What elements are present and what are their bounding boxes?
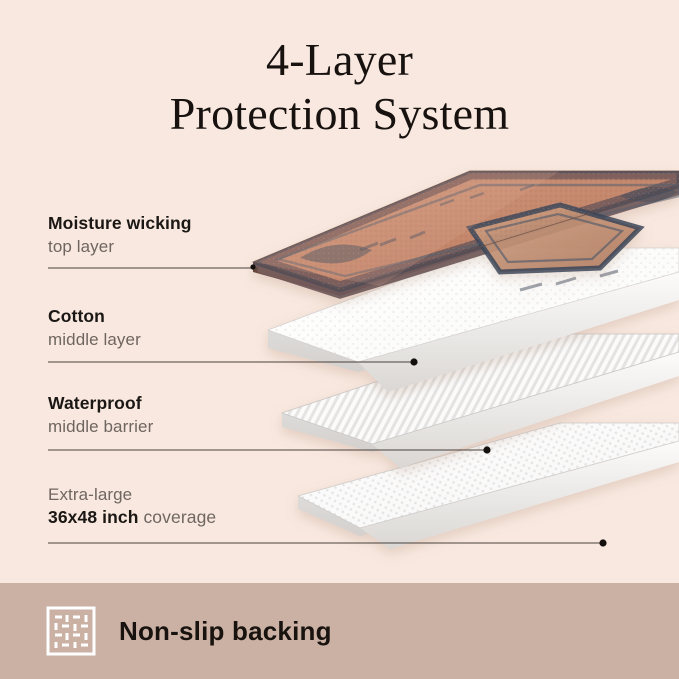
callout-size-line: 36x48 inch coverage <box>48 506 216 529</box>
callout-subtitle-moisture-wicking: top layer <box>48 236 192 258</box>
callout-subtitle-waterproof: middle barrier <box>48 416 153 438</box>
callout-size-tail: coverage <box>139 507 217 527</box>
weave-grid-icon <box>46 606 96 656</box>
callout-title-cotton: Cotton <box>48 306 141 328</box>
callout-subtitle-cotton: middle layer <box>48 329 141 351</box>
product-feature-graphic: 4-Layer Protection System <box>0 0 679 679</box>
callout-waterproof: Waterproof middle barrier <box>48 393 153 438</box>
callout-moisture-wicking: Moisture wicking top layer <box>48 213 192 258</box>
callout-size: Extra-large 36x48 inch coverage <box>48 484 216 529</box>
callout-title-size: Extra-large <box>48 484 216 505</box>
non-slip-label: Non-slip backing <box>119 616 332 647</box>
callout-title-moisture-wicking: Moisture wicking <box>48 213 192 235</box>
callout-cotton: Cotton middle layer <box>48 306 141 351</box>
callout-title-waterproof: Waterproof <box>48 393 153 415</box>
non-slip-banner: Non-slip backing <box>0 583 679 679</box>
callout-size-dimensions: 36x48 inch <box>48 507 139 527</box>
